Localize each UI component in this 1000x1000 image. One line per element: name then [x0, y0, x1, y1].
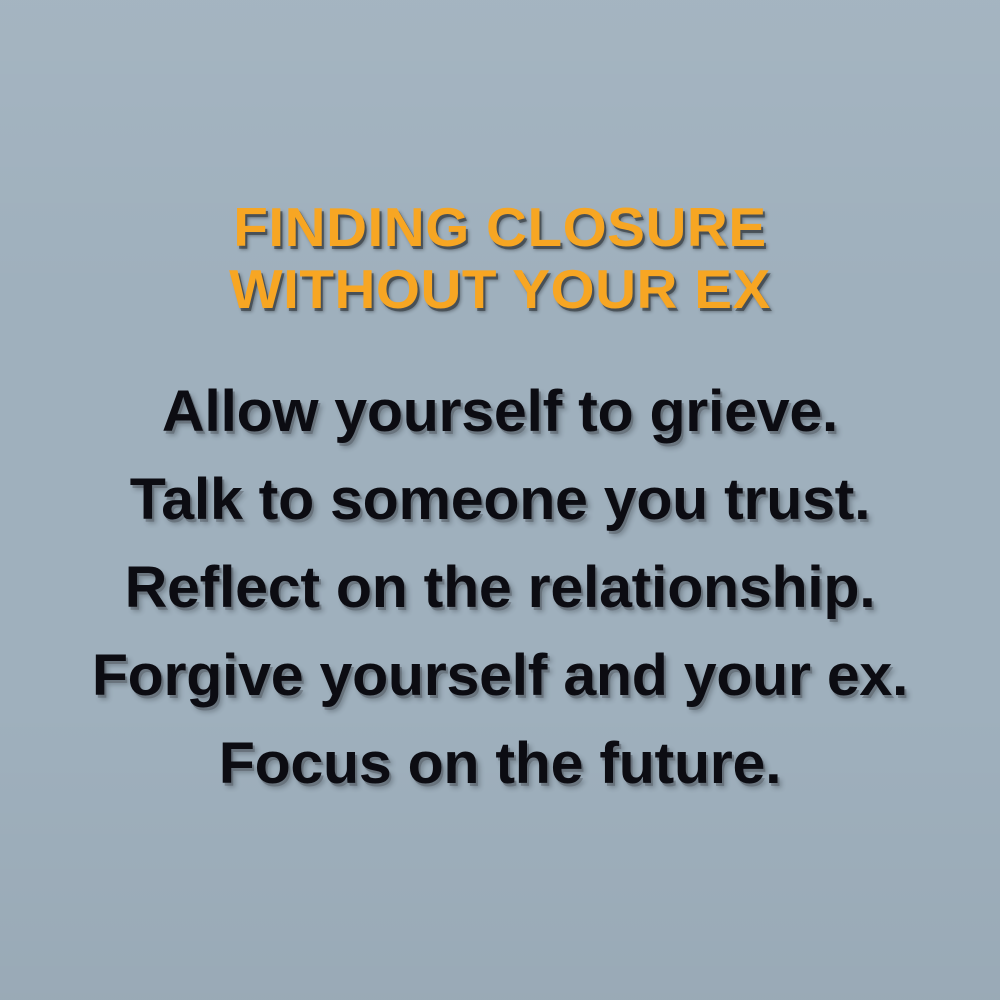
page-title: FINDING CLOSURE WITHOUT YOUR EX [229, 196, 771, 320]
advice-line-1: Allow yourself to grieve. [0, 368, 1000, 456]
card-content: FINDING CLOSURE WITHOUT YOUR EX Allow yo… [0, 0, 1000, 1000]
advice-list: Allow yourself to grieve. Talk to someon… [0, 368, 1000, 808]
advice-line-3: Reflect on the relationship. [0, 544, 1000, 632]
advice-line-2: Talk to someone you trust. [0, 456, 1000, 544]
title-line-2: WITHOUT YOUR EX [229, 258, 771, 320]
quote-image-card: FINDING CLOSURE WITHOUT YOUR EX Allow yo… [0, 0, 1000, 1000]
advice-line-5: Focus on the future. [0, 720, 1000, 808]
title-line-1: FINDING CLOSURE [229, 196, 771, 258]
advice-line-4: Forgive yourself and your ex. [0, 632, 1000, 720]
